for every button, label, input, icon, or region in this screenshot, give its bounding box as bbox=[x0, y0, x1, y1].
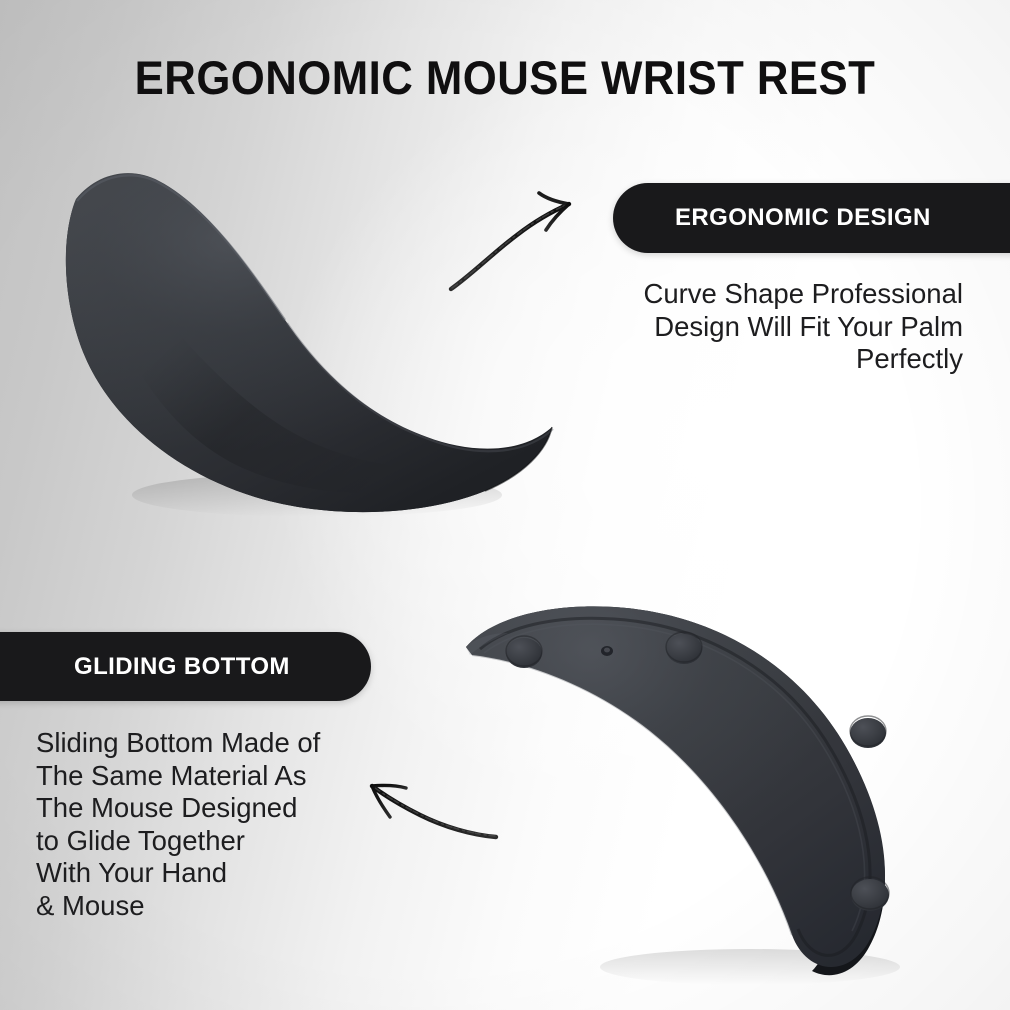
center-vent bbox=[601, 646, 613, 656]
badge-gliding-bottom-label: GLIDING BOTTOM bbox=[74, 653, 290, 681]
description-gliding-bottom: Sliding Bottom Made of The Same Material… bbox=[36, 727, 320, 922]
description-ergonomic-design: Curve Shape Professional Design Will Fit… bbox=[644, 278, 964, 376]
badge-ergonomic-design-label: ERGONOMIC DESIGN bbox=[675, 204, 931, 232]
curved-arrow-right-icon bbox=[445, 185, 595, 310]
product-image-bottom-view bbox=[450, 595, 970, 1000]
infographic-canvas: ERGONOMIC MOUSE WRIST REST bbox=[0, 0, 1010, 1010]
badge-ergonomic-design: ERGONOMIC DESIGN bbox=[613, 183, 1010, 253]
page-title: ERGONOMIC MOUSE WRIST REST bbox=[35, 50, 974, 106]
badge-gliding-bottom: GLIDING BOTTOM bbox=[0, 632, 371, 701]
